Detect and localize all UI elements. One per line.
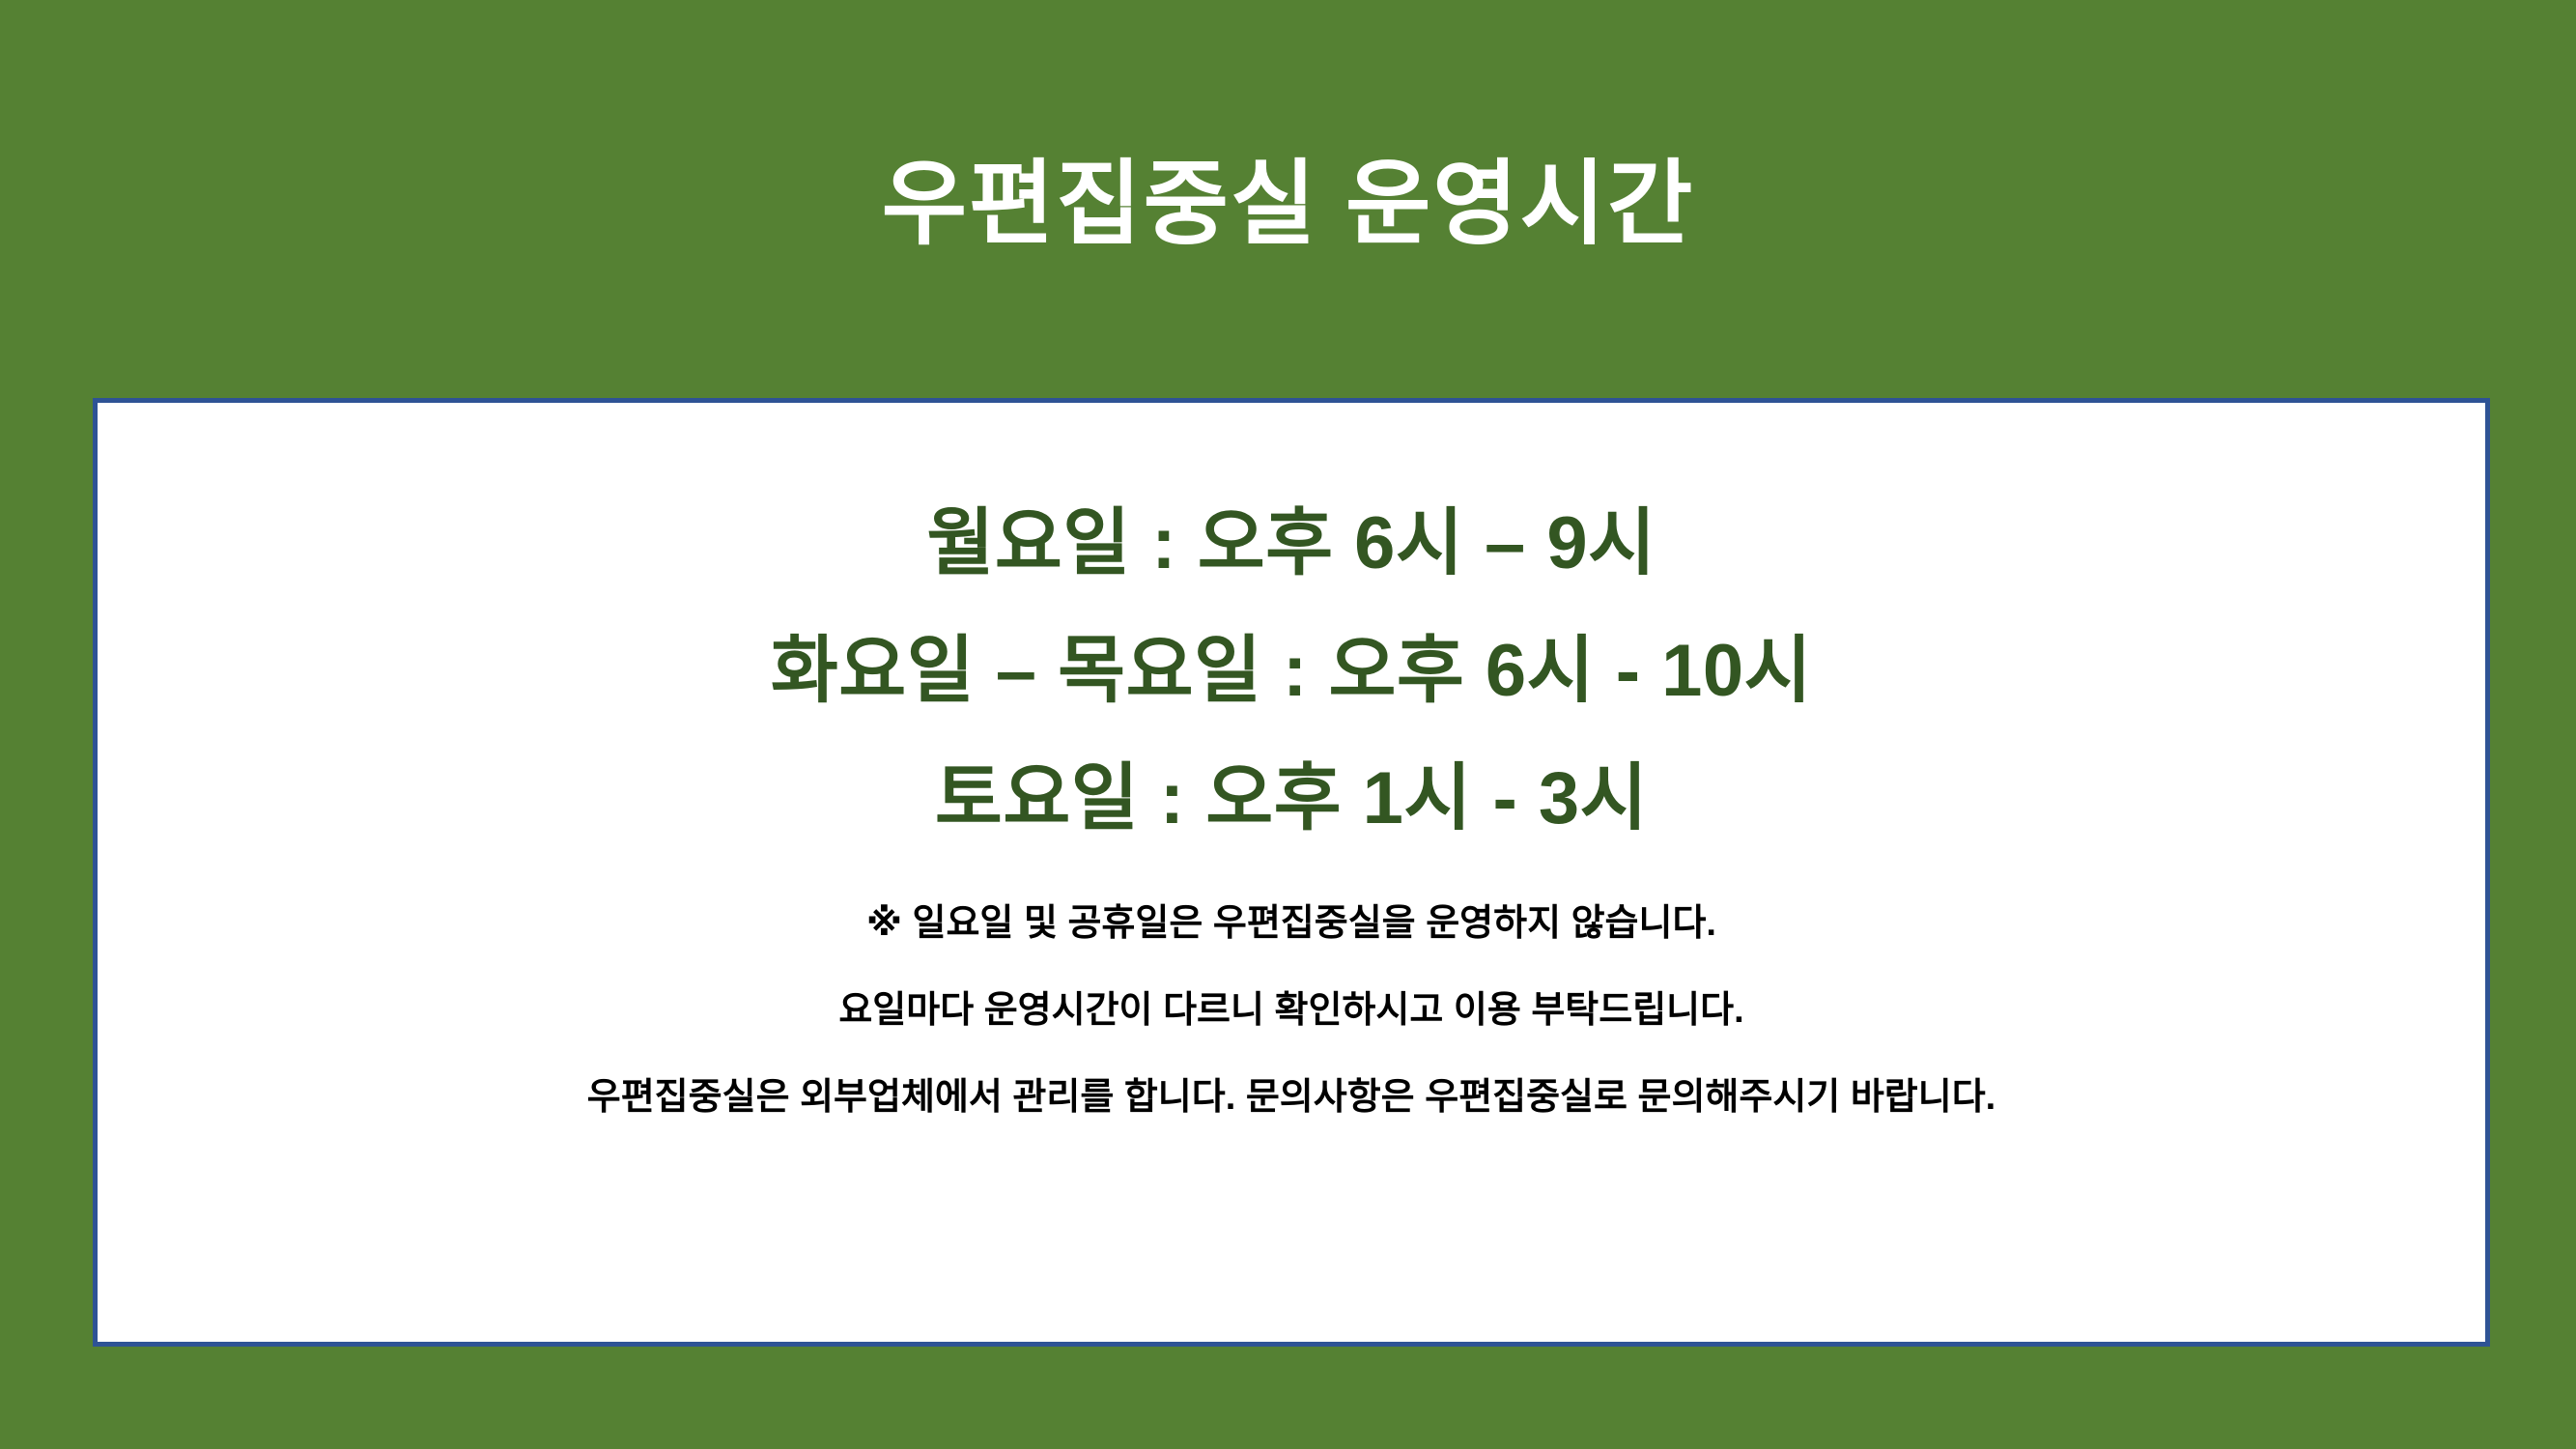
announcement-slide: 우편집중실 운영시간 월요일 : 오후 6시 – 9시 화요일 – 목요일 : … [0,0,2576,1449]
title-bar: 우편집중실 운영시간 [0,0,2576,398]
notes-block: ※ 일요일 및 공휴일은 우편집중실을 운영하지 않습니다. 요일마다 운영시간… [98,905,2485,1116]
info-card: 월요일 : 오후 6시 – 9시 화요일 – 목요일 : 오후 6시 - 10시… [93,398,2490,1347]
operating-hours-list: 월요일 : 오후 6시 – 9시 화요일 – 목요일 : 오후 6시 - 10시… [98,507,2485,836]
schedule-row-saturday: 토요일 : 오후 1시 - 3시 [98,762,2485,836]
note-varying-hours: 요일마다 운영시간이 다르니 확인하시고 이용 부탁드립니다. [98,992,2485,1029]
note-external-management: 우편집중실은 외부업체에서 관리를 합니다. 문의사항은 우편집중실로 문의해주… [98,1079,2485,1116]
schedule-row-tuesday-thursday: 화요일 – 목요일 : 오후 6시 - 10시 [98,635,2485,708]
page-title: 우편집중실 운영시간 [882,154,1695,256]
note-closed-days: ※ 일요일 및 공휴일은 우편집중실을 운영하지 않습니다. [98,905,2485,942]
schedule-row-monday: 월요일 : 오후 6시 – 9시 [98,507,2485,581]
